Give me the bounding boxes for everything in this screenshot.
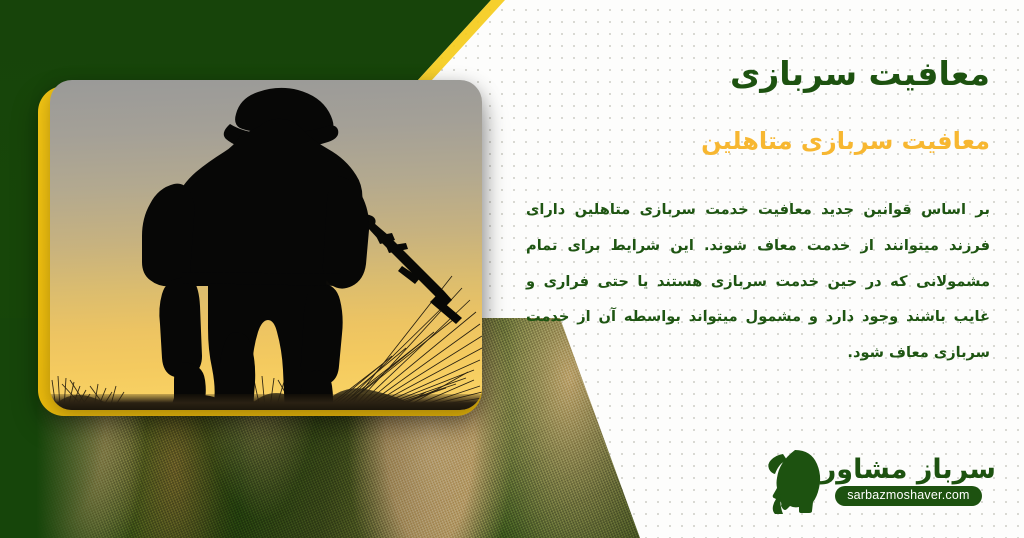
page-subtitle: معافیت سربازی متاهلین — [520, 125, 990, 159]
brand-text-column: سرباز مشاور sarbazmoshaver.com — [821, 456, 996, 507]
brand-logo[interactable]: سرباز مشاور sarbazmoshaver.com — [765, 448, 996, 514]
rifle-shape — [356, 215, 462, 324]
brand-name: سرباز مشاور — [821, 456, 996, 483]
soldier-silhouette-illustration — [50, 80, 482, 410]
copy-block: معافیت سربازی معافیت سربازی متاهلین بر ا… — [520, 52, 990, 371]
brand-website-pill[interactable]: sarbazmoshaver.com — [835, 486, 981, 507]
promo-banner: معافیت سربازی معافیت سربازی متاهلین بر ا… — [0, 0, 1024, 538]
page-title: معافیت سربازی — [520, 52, 990, 97]
soldier-body-shape — [142, 88, 369, 410]
photo-ground-line — [50, 394, 482, 410]
soldier-head-silhouette-icon — [765, 448, 821, 514]
soldier-photo-card — [50, 80, 482, 410]
body-paragraph: بر اساس قوانین جدید معافیت خدمت سربازی م… — [520, 192, 990, 371]
grass-fan-right — [328, 276, 482, 406]
